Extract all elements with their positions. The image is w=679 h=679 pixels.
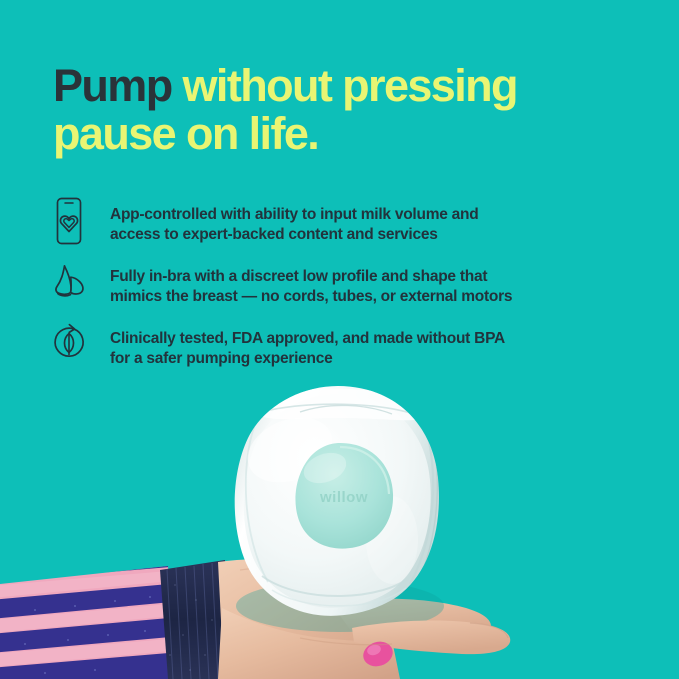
willow-logo: willow [319, 489, 368, 506]
page-title: Pump without pressing pause on life. [53, 62, 653, 158]
advertisement-panel: Pump without pressing pause on life. App… [0, 0, 679, 679]
willow-breast-pump: willow [235, 386, 444, 632]
phone-heart-icon [52, 196, 86, 246]
headline-line1-rest: without pressing [172, 60, 517, 111]
pump-center-panel: willow [295, 443, 393, 549]
leaf-cycle-icon [52, 320, 86, 370]
headline-line2: pause on life. [53, 108, 318, 159]
feature-item-clinically-tested: Clinically tested, FDA approved, and mad… [50, 320, 660, 372]
headline-word-pump: Pump [53, 60, 172, 111]
feature-item-app-controlled: App-controlled with ability to input mil… [50, 196, 660, 248]
feature-list: App-controlled with ability to input mil… [50, 196, 660, 382]
feature-item-in-bra: Fully in-bra with a discreet low profile… [50, 258, 660, 310]
bra-icon [52, 258, 86, 308]
feature-text: Fully in-bra with a discreet low profile… [110, 258, 660, 306]
feature-text: App-controlled with ability to input mil… [110, 196, 660, 244]
product-photo: willow [0, 370, 679, 679]
feature-text: Clinically tested, FDA approved, and mad… [110, 320, 660, 368]
